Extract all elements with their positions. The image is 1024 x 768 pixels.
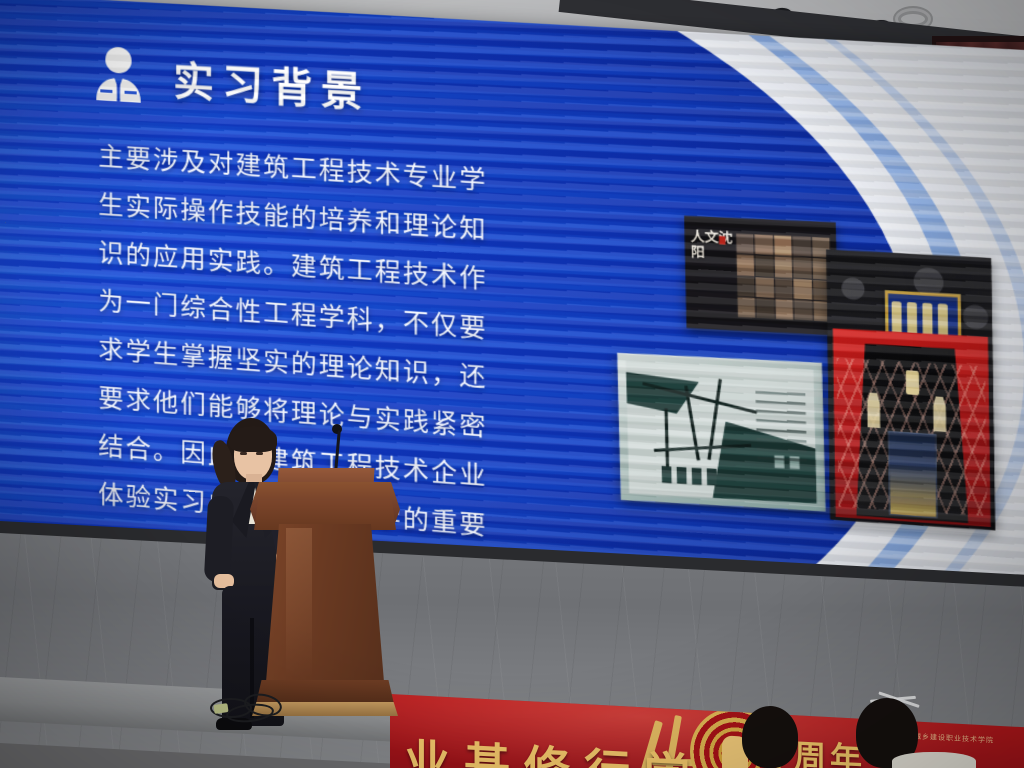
businessperson-icon [90,43,147,105]
photo-mosaic [736,234,832,322]
model-block [692,467,702,485]
page-title: 实习背景 [173,48,370,118]
cable-connector [213,703,228,714]
presenter-arm-left [204,495,234,582]
podium-highlight [286,528,312,678]
floor-cables [196,694,296,724]
slide-photo-exhibition-wall: 人文沈阳 [684,216,838,336]
presenter-fringe [229,426,277,452]
model-block [707,468,717,486]
presenter-eye [256,452,263,455]
model-legend-text [756,391,807,468]
model-frame [625,361,817,504]
podium-body [266,524,384,682]
exhibition-photo-caption: 人文沈阳 [690,229,734,316]
red-seal-mark [719,236,726,245]
display-vase [888,431,938,518]
hanging-lantern-icon [905,370,919,395]
audience-shoulder [892,752,976,768]
slide-photo-city-model [617,353,826,512]
presenter-eye [240,452,247,455]
presentation-hall-scene: 实习背景 主要涉及对建筑工程技术专业学 生实际操作技能的培养和理论知 识的应用实… [0,0,1024,768]
model-road [664,408,669,469]
model-block [677,467,687,485]
audience-head [742,706,798,768]
model-block [662,466,672,484]
slide-photo-red-gate [826,249,995,530]
